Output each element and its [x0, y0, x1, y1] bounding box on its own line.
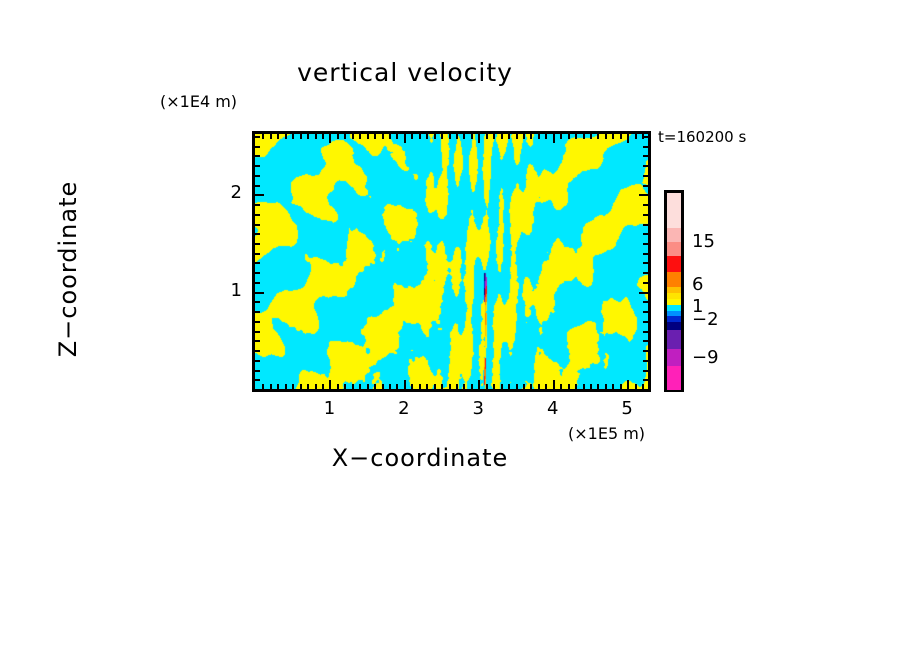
colorbar-band — [667, 228, 681, 242]
tick-x-bottom — [419, 384, 421, 389]
x-tick-label: 4 — [533, 398, 573, 419]
tick-x-top — [538, 134, 540, 139]
tick-y-right — [643, 282, 648, 284]
tick-x-top — [597, 134, 599, 139]
tick-y-right — [643, 243, 648, 245]
tick-x-top — [419, 134, 421, 139]
tick-x-top — [478, 134, 480, 143]
tick-y-left — [255, 155, 260, 157]
tick-x-bottom — [545, 384, 547, 389]
x-tick-label: 2 — [384, 398, 424, 419]
tick-x-bottom — [575, 384, 577, 389]
tick-x-top — [277, 134, 279, 139]
y-tick-label: 1 — [212, 280, 242, 301]
tick-y-left — [255, 146, 260, 148]
tick-y-left — [255, 214, 260, 216]
colorbar-band — [667, 366, 681, 389]
tick-y-left — [255, 321, 260, 323]
page-title: vertical velocity — [0, 58, 857, 87]
tick-y-right — [643, 146, 648, 148]
tick-x-bottom — [530, 384, 532, 389]
tick-x-top — [352, 134, 354, 139]
y-tick-label: 2 — [212, 182, 242, 203]
tick-x-bottom — [463, 384, 465, 389]
tick-y-left — [255, 204, 260, 206]
tick-y-right — [639, 292, 648, 294]
tick-x-top — [493, 134, 495, 139]
tick-x-bottom — [404, 380, 406, 389]
colorbar — [664, 190, 684, 392]
tick-y-left — [255, 301, 260, 303]
tick-x-top — [545, 134, 547, 139]
tick-y-left — [255, 311, 260, 313]
tick-x-top — [270, 134, 272, 139]
tick-x-top — [337, 134, 339, 139]
colorbar-band — [667, 242, 681, 256]
x-tick-label: 1 — [309, 398, 349, 419]
colorbar-tick-label: −9 — [692, 347, 719, 368]
tick-x-bottom — [560, 384, 562, 389]
tick-x-bottom — [449, 384, 451, 389]
tick-y-left — [255, 233, 260, 235]
tick-x-top — [307, 134, 309, 139]
tick-y-left — [255, 282, 260, 284]
tick-y-left — [255, 253, 260, 255]
tick-x-bottom — [583, 384, 585, 389]
tick-x-top — [612, 134, 614, 139]
tick-y-left — [255, 224, 260, 226]
tick-y-left — [255, 292, 264, 294]
tick-y-right — [643, 253, 648, 255]
tick-x-bottom — [329, 380, 331, 389]
tick-x-bottom — [411, 384, 413, 389]
tick-x-top — [329, 134, 331, 143]
tick-x-bottom — [382, 384, 384, 389]
tick-x-bottom — [493, 384, 495, 389]
tick-x-bottom — [612, 384, 614, 389]
x-tick-label: 5 — [607, 398, 647, 419]
tick-y-left — [255, 350, 260, 352]
x-tick-label: 3 — [458, 398, 498, 419]
colorbar-band — [667, 193, 681, 229]
tick-x-bottom — [568, 384, 570, 389]
tick-x-top — [449, 134, 451, 139]
tick-x-bottom — [627, 380, 629, 389]
tick-x-top — [434, 134, 436, 139]
tick-x-bottom — [620, 384, 622, 389]
tick-y-right — [643, 331, 648, 333]
tick-y-right — [643, 185, 648, 187]
tick-x-top — [292, 134, 294, 139]
tick-x-bottom — [352, 384, 354, 389]
tick-x-top — [382, 134, 384, 139]
y-axis-title: Z−coordinate — [54, 149, 82, 389]
tick-y-left — [255, 185, 260, 187]
plot-area — [252, 131, 651, 392]
figure-canvas: vertical velocity (×1E4 m) t=160200 s 12… — [0, 0, 904, 654]
tick-y-left — [255, 272, 260, 274]
tick-x-top — [389, 134, 391, 139]
tick-x-bottom — [553, 380, 555, 389]
tick-x-bottom — [300, 384, 302, 389]
tick-x-bottom — [337, 384, 339, 389]
tick-x-bottom — [270, 384, 272, 389]
tick-x-bottom — [478, 380, 480, 389]
tick-y-left — [255, 243, 260, 245]
x-axis-title: X−coordinate — [0, 444, 872, 472]
tick-x-top — [426, 134, 428, 139]
tick-x-top — [568, 134, 570, 139]
tick-x-top — [560, 134, 562, 139]
tick-y-right — [643, 214, 648, 216]
tick-y-right — [643, 175, 648, 177]
colorbar-tick-label: −2 — [692, 309, 719, 330]
tick-x-top — [635, 134, 637, 139]
tick-x-bottom — [344, 384, 346, 389]
tick-y-right — [643, 262, 648, 264]
tick-x-bottom — [523, 384, 525, 389]
tick-x-bottom — [471, 384, 473, 389]
tick-x-top — [590, 134, 592, 139]
colorbar-band — [667, 256, 681, 273]
tick-x-bottom — [501, 384, 503, 389]
tick-x-top — [553, 134, 555, 143]
tick-x-bottom — [635, 384, 637, 389]
colorbar-band — [667, 330, 681, 349]
tick-x-bottom — [441, 384, 443, 389]
tick-x-bottom — [605, 384, 607, 389]
tick-x-top — [620, 134, 622, 139]
tick-x-bottom — [292, 384, 294, 389]
tick-x-top — [627, 134, 629, 143]
tick-y-right — [643, 136, 648, 138]
tick-x-bottom — [516, 384, 518, 389]
x-axis-unit-label: (×1E5 m) — [568, 424, 645, 443]
tick-x-bottom — [434, 384, 436, 389]
tick-x-top — [523, 134, 525, 139]
tick-x-top — [530, 134, 532, 139]
tick-y-right — [643, 272, 648, 274]
tick-x-top — [359, 134, 361, 139]
tick-y-right — [643, 165, 648, 167]
tick-x-bottom — [307, 384, 309, 389]
tick-y-right — [643, 370, 648, 372]
tick-x-top — [456, 134, 458, 139]
tick-y-left — [255, 340, 260, 342]
tick-y-right — [643, 379, 648, 381]
tick-y-right — [643, 301, 648, 303]
tick-x-top — [575, 134, 577, 139]
tick-x-top — [508, 134, 510, 139]
tick-y-right — [643, 311, 648, 313]
tick-x-bottom — [374, 384, 376, 389]
tick-y-left — [255, 360, 260, 362]
tick-x-top — [404, 134, 406, 143]
tick-y-left — [255, 165, 260, 167]
tick-x-bottom — [389, 384, 391, 389]
time-annotation: t=160200 s — [658, 128, 746, 146]
tick-x-top — [322, 134, 324, 139]
tick-y-right — [643, 204, 648, 206]
tick-x-bottom — [426, 384, 428, 389]
tick-y-right — [643, 340, 648, 342]
tick-x-top — [411, 134, 413, 139]
tick-x-bottom — [642, 384, 644, 389]
tick-x-bottom — [262, 384, 264, 389]
tick-y-right — [643, 233, 648, 235]
contour-field — [255, 134, 648, 389]
tick-x-top — [583, 134, 585, 139]
tick-x-bottom — [367, 384, 369, 389]
y-axis-unit-label: (×1E4 m) — [160, 92, 237, 111]
tick-x-bottom — [322, 384, 324, 389]
tick-x-bottom — [359, 384, 361, 389]
tick-x-bottom — [277, 384, 279, 389]
colorbar-band — [667, 349, 681, 367]
tick-x-top — [367, 134, 369, 139]
tick-y-right — [643, 321, 648, 323]
tick-x-top — [300, 134, 302, 139]
tick-x-bottom — [538, 384, 540, 389]
tick-x-bottom — [597, 384, 599, 389]
tick-x-top — [516, 134, 518, 139]
tick-y-left — [255, 370, 260, 372]
tick-x-top — [262, 134, 264, 139]
tick-x-bottom — [456, 384, 458, 389]
tick-x-bottom — [590, 384, 592, 389]
tick-x-top — [486, 134, 488, 139]
tick-x-bottom — [315, 384, 317, 389]
colorbar-band — [667, 272, 681, 287]
tick-y-right — [643, 360, 648, 362]
tick-x-top — [396, 134, 398, 139]
tick-x-bottom — [285, 384, 287, 389]
tick-y-right — [643, 350, 648, 352]
tick-x-top — [315, 134, 317, 139]
tick-x-top — [344, 134, 346, 139]
colorbar-tick-label: 15 — [692, 231, 715, 252]
tick-x-top — [441, 134, 443, 139]
tick-x-top — [374, 134, 376, 139]
tick-x-bottom — [508, 384, 510, 389]
tick-x-top — [285, 134, 287, 139]
tick-y-left — [255, 262, 260, 264]
tick-x-top — [471, 134, 473, 139]
tick-x-top — [501, 134, 503, 139]
tick-y-left — [255, 194, 264, 196]
tick-x-bottom — [486, 384, 488, 389]
tick-x-top — [605, 134, 607, 139]
tick-y-left — [255, 379, 260, 381]
tick-y-left — [255, 136, 260, 138]
tick-x-top — [463, 134, 465, 139]
tick-y-right — [643, 224, 648, 226]
tick-y-left — [255, 175, 260, 177]
tick-x-bottom — [396, 384, 398, 389]
tick-y-right — [643, 155, 648, 157]
tick-y-right — [639, 194, 648, 196]
colorbar-tick-label: 6 — [692, 274, 703, 295]
tick-y-left — [255, 331, 260, 333]
